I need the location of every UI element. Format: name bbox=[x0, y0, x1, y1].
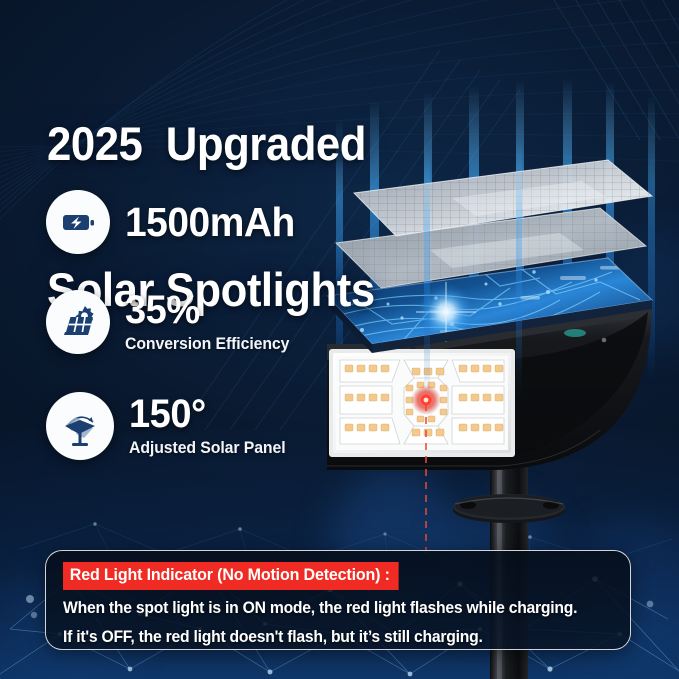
feature-angle-value: 150° bbox=[129, 394, 284, 434]
battery-charging-icon bbox=[46, 190, 110, 254]
feature-angle-label: Adjusted Solar Panel bbox=[129, 439, 286, 458]
feature-efficiency-text: 35% Conversion Efficiency bbox=[125, 290, 296, 354]
callout-line-2: If it's OFF, the red light doesn't flash… bbox=[63, 627, 610, 647]
solar-panel-layer-middle bbox=[336, 208, 646, 288]
feature-battery-value: 1500mAh bbox=[125, 202, 295, 243]
feature-battery-text: 1500mAh bbox=[125, 202, 304, 243]
solar-panel-sun-icon bbox=[46, 290, 110, 354]
callout-title: Red Light Indicator (No Motion Detection… bbox=[63, 562, 399, 590]
red-light-indicator-callout: Red Light Indicator (No Motion Detection… bbox=[45, 550, 631, 650]
feature-efficiency-value: 35% bbox=[125, 290, 288, 330]
light-beams bbox=[336, 78, 655, 403]
feature-battery: 1500mAh bbox=[46, 190, 304, 254]
product-marketing-image: 2025 Upgraded Solar Spotlights bbox=[0, 0, 679, 679]
title-line-1: 2025 Upgraded bbox=[47, 120, 375, 169]
solar-panel-layer-top bbox=[354, 160, 652, 236]
feature-efficiency: 35% Conversion Efficiency bbox=[46, 290, 296, 354]
feature-angle: 150° Adjusted Solar Panel bbox=[46, 392, 292, 460]
callout-line-1: When the spot light is in ON mode, the r… bbox=[63, 598, 610, 618]
feature-angle-text: 150° Adjusted Solar Panel bbox=[129, 394, 292, 458]
lamp-housing bbox=[327, 300, 652, 470]
solar-panel-layer-circuit bbox=[327, 258, 652, 353]
feature-efficiency-label: Conversion Efficiency bbox=[125, 335, 289, 354]
adjustable-solar-panel-icon bbox=[46, 392, 114, 460]
pole-flange bbox=[453, 494, 565, 523]
red-indicator-led bbox=[411, 385, 441, 415]
